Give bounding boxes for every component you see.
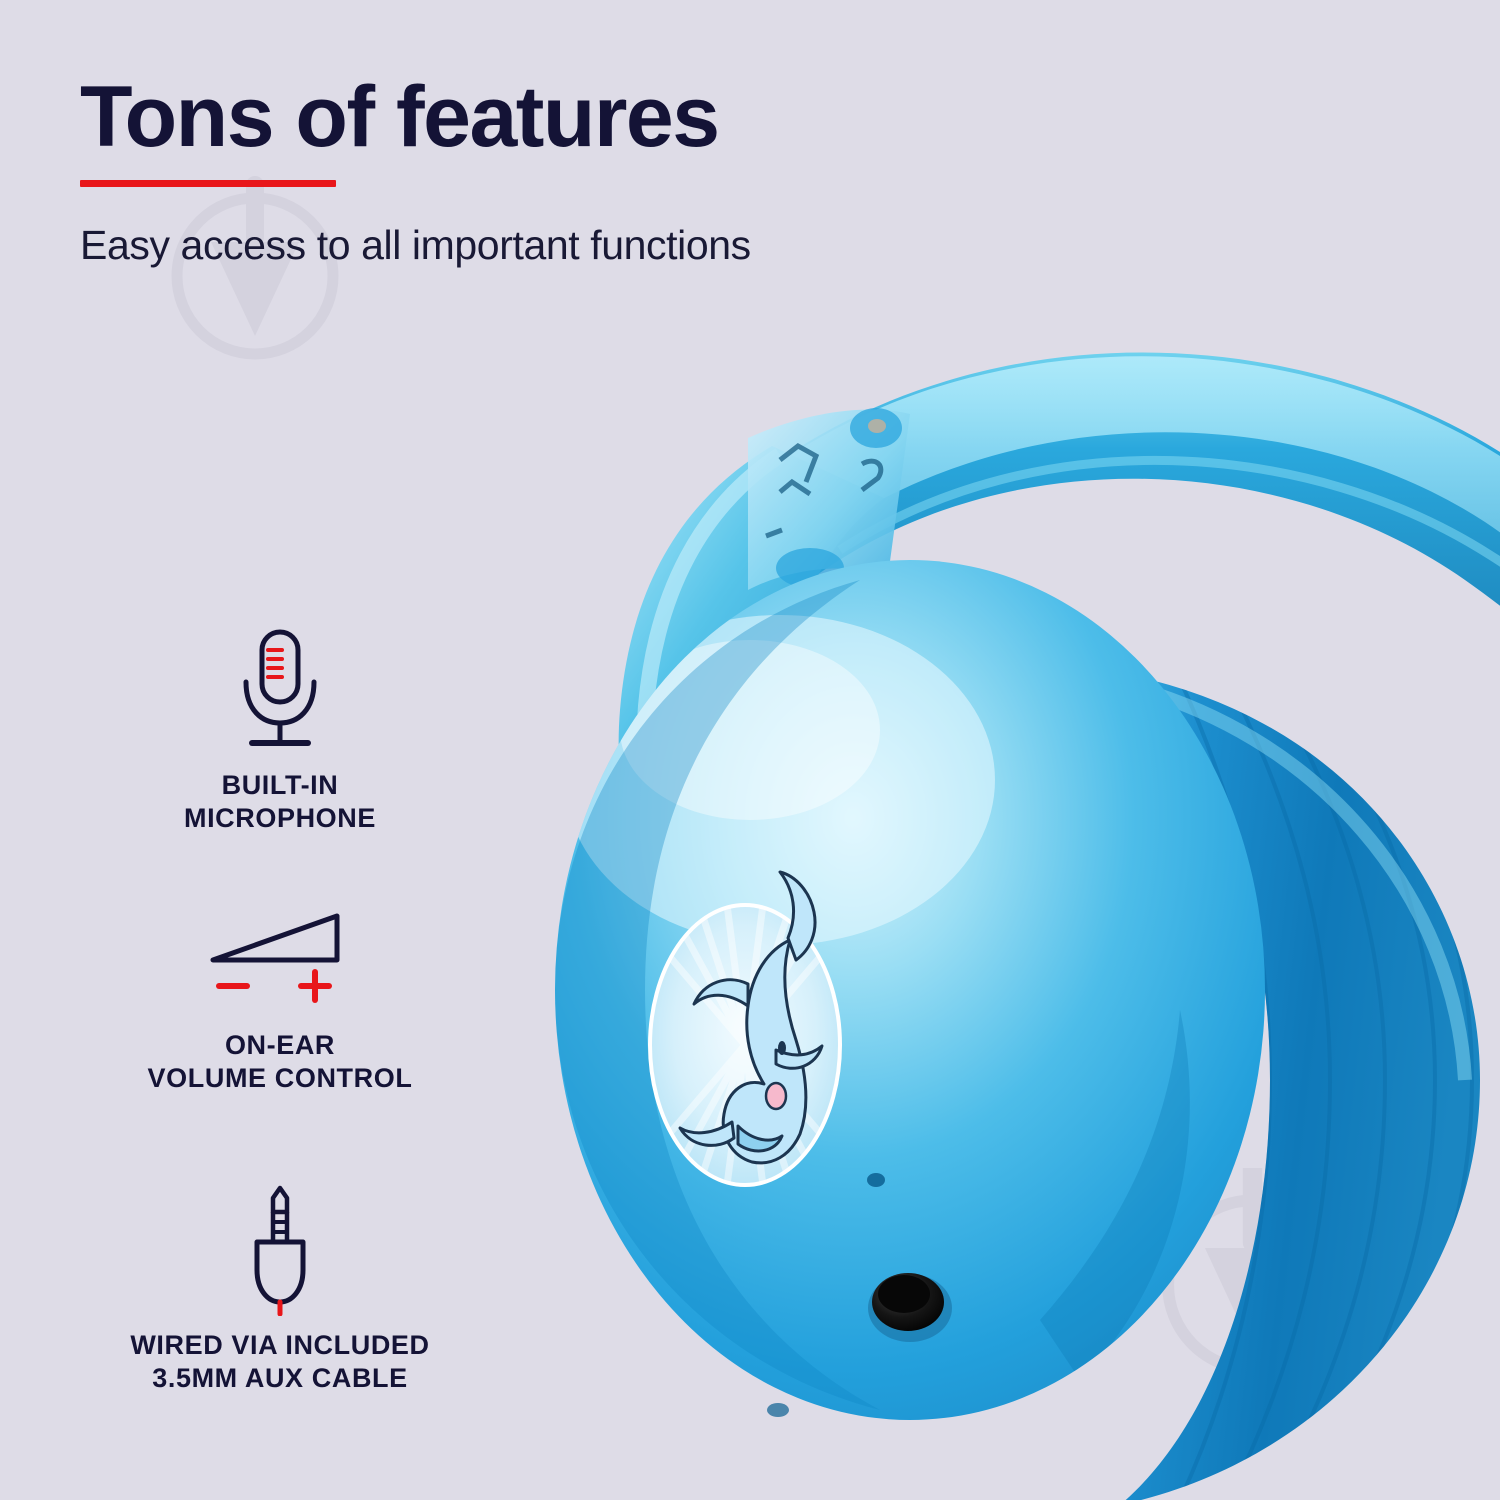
feature-on-ear-volume-control: ON-EAR VOLUME CONTROL [60,905,500,1095]
volume-ramp-icon [205,908,355,1012]
page-title: Tons of features [80,74,980,162]
ear-cup [555,560,1265,1420]
feature-wired-aux-cable: WIRED VIA INCLUDED 3.5MM AUX CABLE [60,1185,500,1395]
watermark-icon [1155,1168,1350,1380]
feature-label: WIRED VIA INCLUDED 3.5MM AUX CABLE [60,1329,500,1395]
dolphin-icon [680,872,822,1163]
headband [780,353,1500,955]
aux-jack-icon [230,1184,330,1316]
feature-icon-wrap [60,1185,500,1315]
product-photo [480,250,1500,1500]
mic-pinhole [767,1403,789,1417]
feature-icon-wrap [60,625,500,755]
dolphin-badge [630,850,860,1240]
control-symbols [766,446,881,536]
control-button [776,548,844,588]
feature-label: BUILT-IN MICROPHONE [60,769,500,835]
plus-icon [301,972,329,1000]
status-led [850,408,902,448]
feature-icon-wrap [60,905,500,1015]
feature-built-in-microphone: BUILT-IN MICROPHONE [60,625,500,835]
aux-jack-port [868,1273,952,1342]
page-subtitle: Easy access to all important functions [80,222,1080,269]
accent-rule [80,180,336,187]
microphone-icon [219,626,341,754]
feature-label: ON-EAR VOLUME CONTROL [60,1029,500,1095]
mic-pinhole [867,1173,885,1187]
ear-cushion [1100,670,1480,1500]
headband-arm [619,446,884,956]
product-feature-image: Tons of features Easy access to all impo… [0,0,1500,1500]
control-plate [748,408,910,590]
